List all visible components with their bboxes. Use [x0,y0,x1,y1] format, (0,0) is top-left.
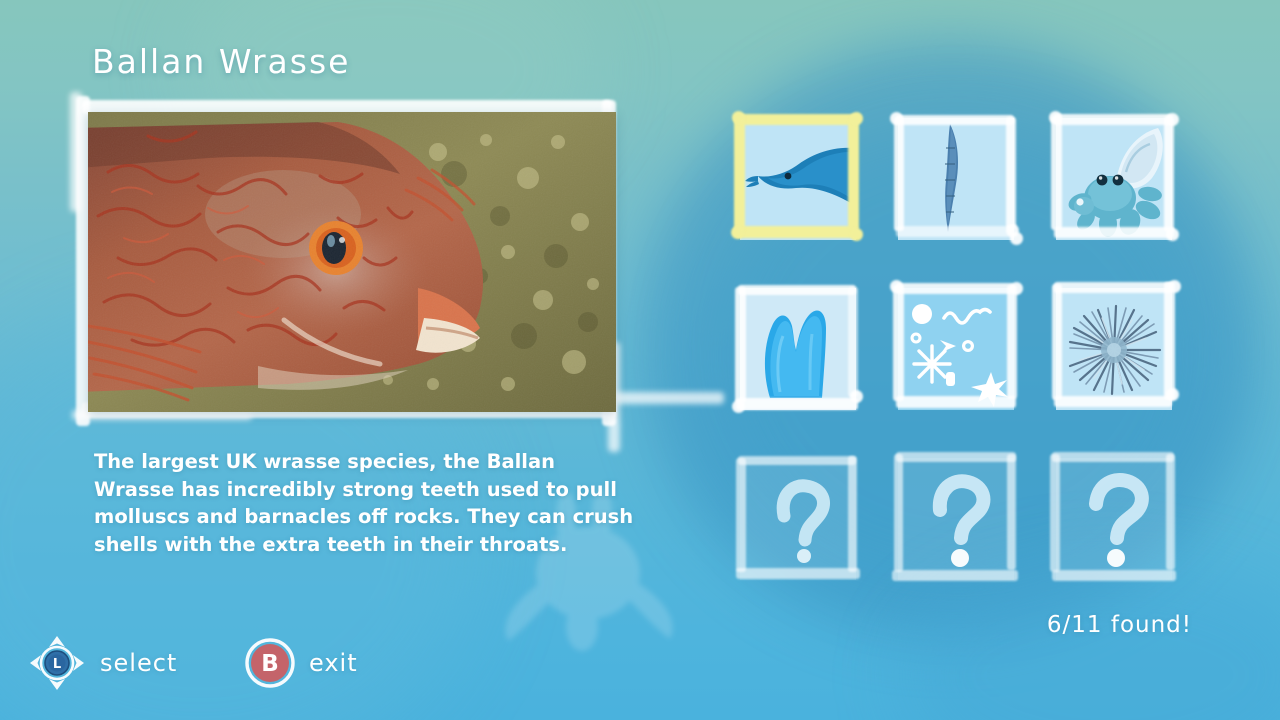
collection-card-locked-3[interactable] [1042,448,1192,600]
collection-card-pipefish[interactable] [884,108,1034,260]
collection-card-eel[interactable] [726,108,876,260]
pipefish-icon [898,118,1014,240]
species-photo [88,112,616,412]
page-title: Ballan Wrasse [92,42,350,81]
collection-counter: 6/11 found! [1047,612,1192,638]
collection-card-locked-1[interactable] [726,448,876,600]
collection-card-hermit-crab[interactable] [1042,108,1192,260]
card-artwork-plate [740,118,856,240]
sponge-icon [740,288,856,410]
species-description: The largest UK wrasse species, the Balla… [94,448,634,558]
card-artwork-plate [1056,288,1172,410]
hint-select[interactable]: L select [28,634,177,692]
species-photo-frame [74,92,634,432]
hint-exit-label: exit [309,649,358,677]
svg-text:L: L [53,657,61,672]
hint-select-label: select [100,649,177,677]
card-artwork-plate [1056,118,1172,240]
analog-stick-icon: L [28,634,86,692]
collection-card-plankton[interactable] [884,278,1034,430]
underwater-journal-screen: Ballan Wrasse [0,0,1280,720]
collection-grid [726,108,1196,608]
b-button-icon: B [245,638,295,688]
svg-text:B: B [261,651,279,677]
collection-card-sea-urchin[interactable] [1042,278,1192,430]
card-artwork-plate [740,288,856,410]
collection-card-locked-2[interactable] [884,448,1034,600]
hermit-crab-icon [1056,118,1172,240]
eel-icon [740,118,856,240]
plankton-icon [898,288,1014,410]
card-artwork-plate [898,288,1014,410]
card-artwork-plate [898,118,1014,240]
sea-urchin-icon [1056,288,1172,410]
control-hints: L select B exit [0,610,660,720]
hint-exit[interactable]: B exit [245,638,358,688]
collection-card-sponge[interactable] [726,278,876,430]
